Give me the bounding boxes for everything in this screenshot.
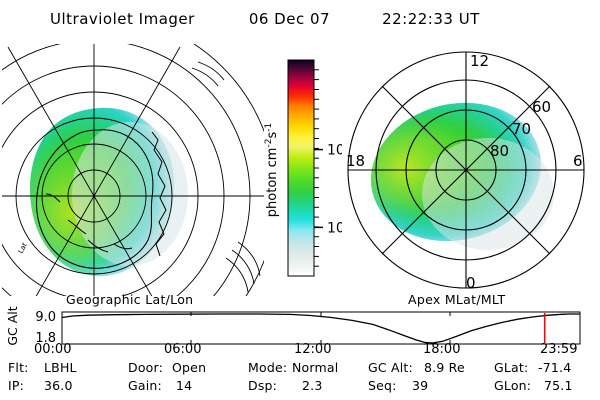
observation-date: 06 Dec 07 (249, 10, 330, 28)
colorbar: photon cm-2s-1 10010 (262, 48, 342, 292)
orbit-xtick-4: 23:59 (540, 342, 577, 357)
value-glat: -71.4 (538, 360, 571, 375)
field-glon: GLon: (494, 378, 531, 393)
field-glat: GLat: (494, 360, 528, 375)
cb-label-exp2: -1 (264, 123, 274, 132)
orbit-xtick-2: 12:00 (294, 342, 331, 357)
colorbar-gradient (288, 60, 314, 276)
field-gcalt: GC Alt: (368, 360, 413, 375)
instrument-title: Ultraviolet Imager (50, 10, 195, 28)
value-door: Open (172, 360, 206, 375)
cb-label-main: photon cm (265, 148, 280, 218)
value-dsp: 2.3 (302, 378, 322, 393)
cb-label-exp: -2 (264, 139, 274, 148)
field-gain: Gain: (128, 378, 162, 393)
mlat-label-80: 80 (490, 142, 509, 160)
value-glon: 75.1 (544, 378, 573, 393)
uvi-summary-plot: Ultraviolet Imager 06 Dec 07 22:22:33 UT (0, 0, 600, 400)
colorbar-axis-label: photon cm-2s-1 (264, 123, 280, 217)
status-row-1: Flt: LBHL Door: Open Mode: Normal GC Alt… (0, 360, 600, 378)
field-ip: IP: (8, 378, 24, 393)
observation-time: 22:22:33 UT (382, 10, 480, 28)
orbit-altitude-curve (62, 314, 580, 343)
header: Ultraviolet Imager 06 Dec 07 22:22:33 UT (0, 6, 600, 32)
status-row-2: IP: 36.0 Gain: 14 Dsp: 2.3 Seq: 39 GLon:… (0, 378, 600, 396)
mlt-label-0: 0 (466, 274, 476, 292)
geo-axis-annotation: Lat (17, 241, 29, 255)
geographic-plot-caption: Geographic Lat/Lon (66, 292, 193, 307)
field-dsp: Dsp: (248, 378, 277, 393)
mlt-spokes (348, 52, 584, 288)
value-gain: 14 (176, 378, 192, 393)
field-seq: Seq: (368, 378, 397, 393)
orbit-xtick-1: 06:00 (164, 342, 201, 357)
limb-arcs (192, 62, 260, 292)
aurora-faint-halo (72, 122, 188, 266)
orbit-xtick-labels: 00:00 06:00 12:00 18:00 23:59 (0, 342, 600, 360)
mlt-label-6: 6 (573, 152, 583, 170)
geographic-plot: Lat (2, 44, 264, 296)
mlt-label-12: 12 (470, 52, 489, 70)
apex-mlat-mlt-plot: 12 6 0 18 60 70 80 (338, 44, 600, 296)
field-flt: Flt: (8, 360, 29, 375)
colorbar-minor-ticks (314, 70, 319, 266)
mlat-label-60: 60 (532, 98, 551, 116)
field-door: Door: (128, 360, 163, 375)
orbit-xtick-3: 18:00 (423, 342, 460, 357)
value-seq: 39 (412, 378, 428, 393)
mlat-label-70: 70 (512, 120, 531, 138)
orbit-xtick-0: 00:00 (34, 342, 71, 357)
field-mode: Mode: (248, 360, 287, 375)
value-mode: Normal (292, 360, 338, 375)
value-gcalt: 8.9 Re (424, 360, 465, 375)
mlt-label-18: 18 (346, 152, 365, 170)
orbit-ytick-top: 9.0 (35, 310, 56, 325)
apex-plot-caption: Apex MLat/MLT (408, 292, 505, 307)
value-ip: 36.0 (44, 378, 73, 393)
status-info: Flt: LBHL Door: Open Mode: Normal GC Alt… (0, 360, 600, 400)
value-flt: LBHL (44, 360, 77, 375)
